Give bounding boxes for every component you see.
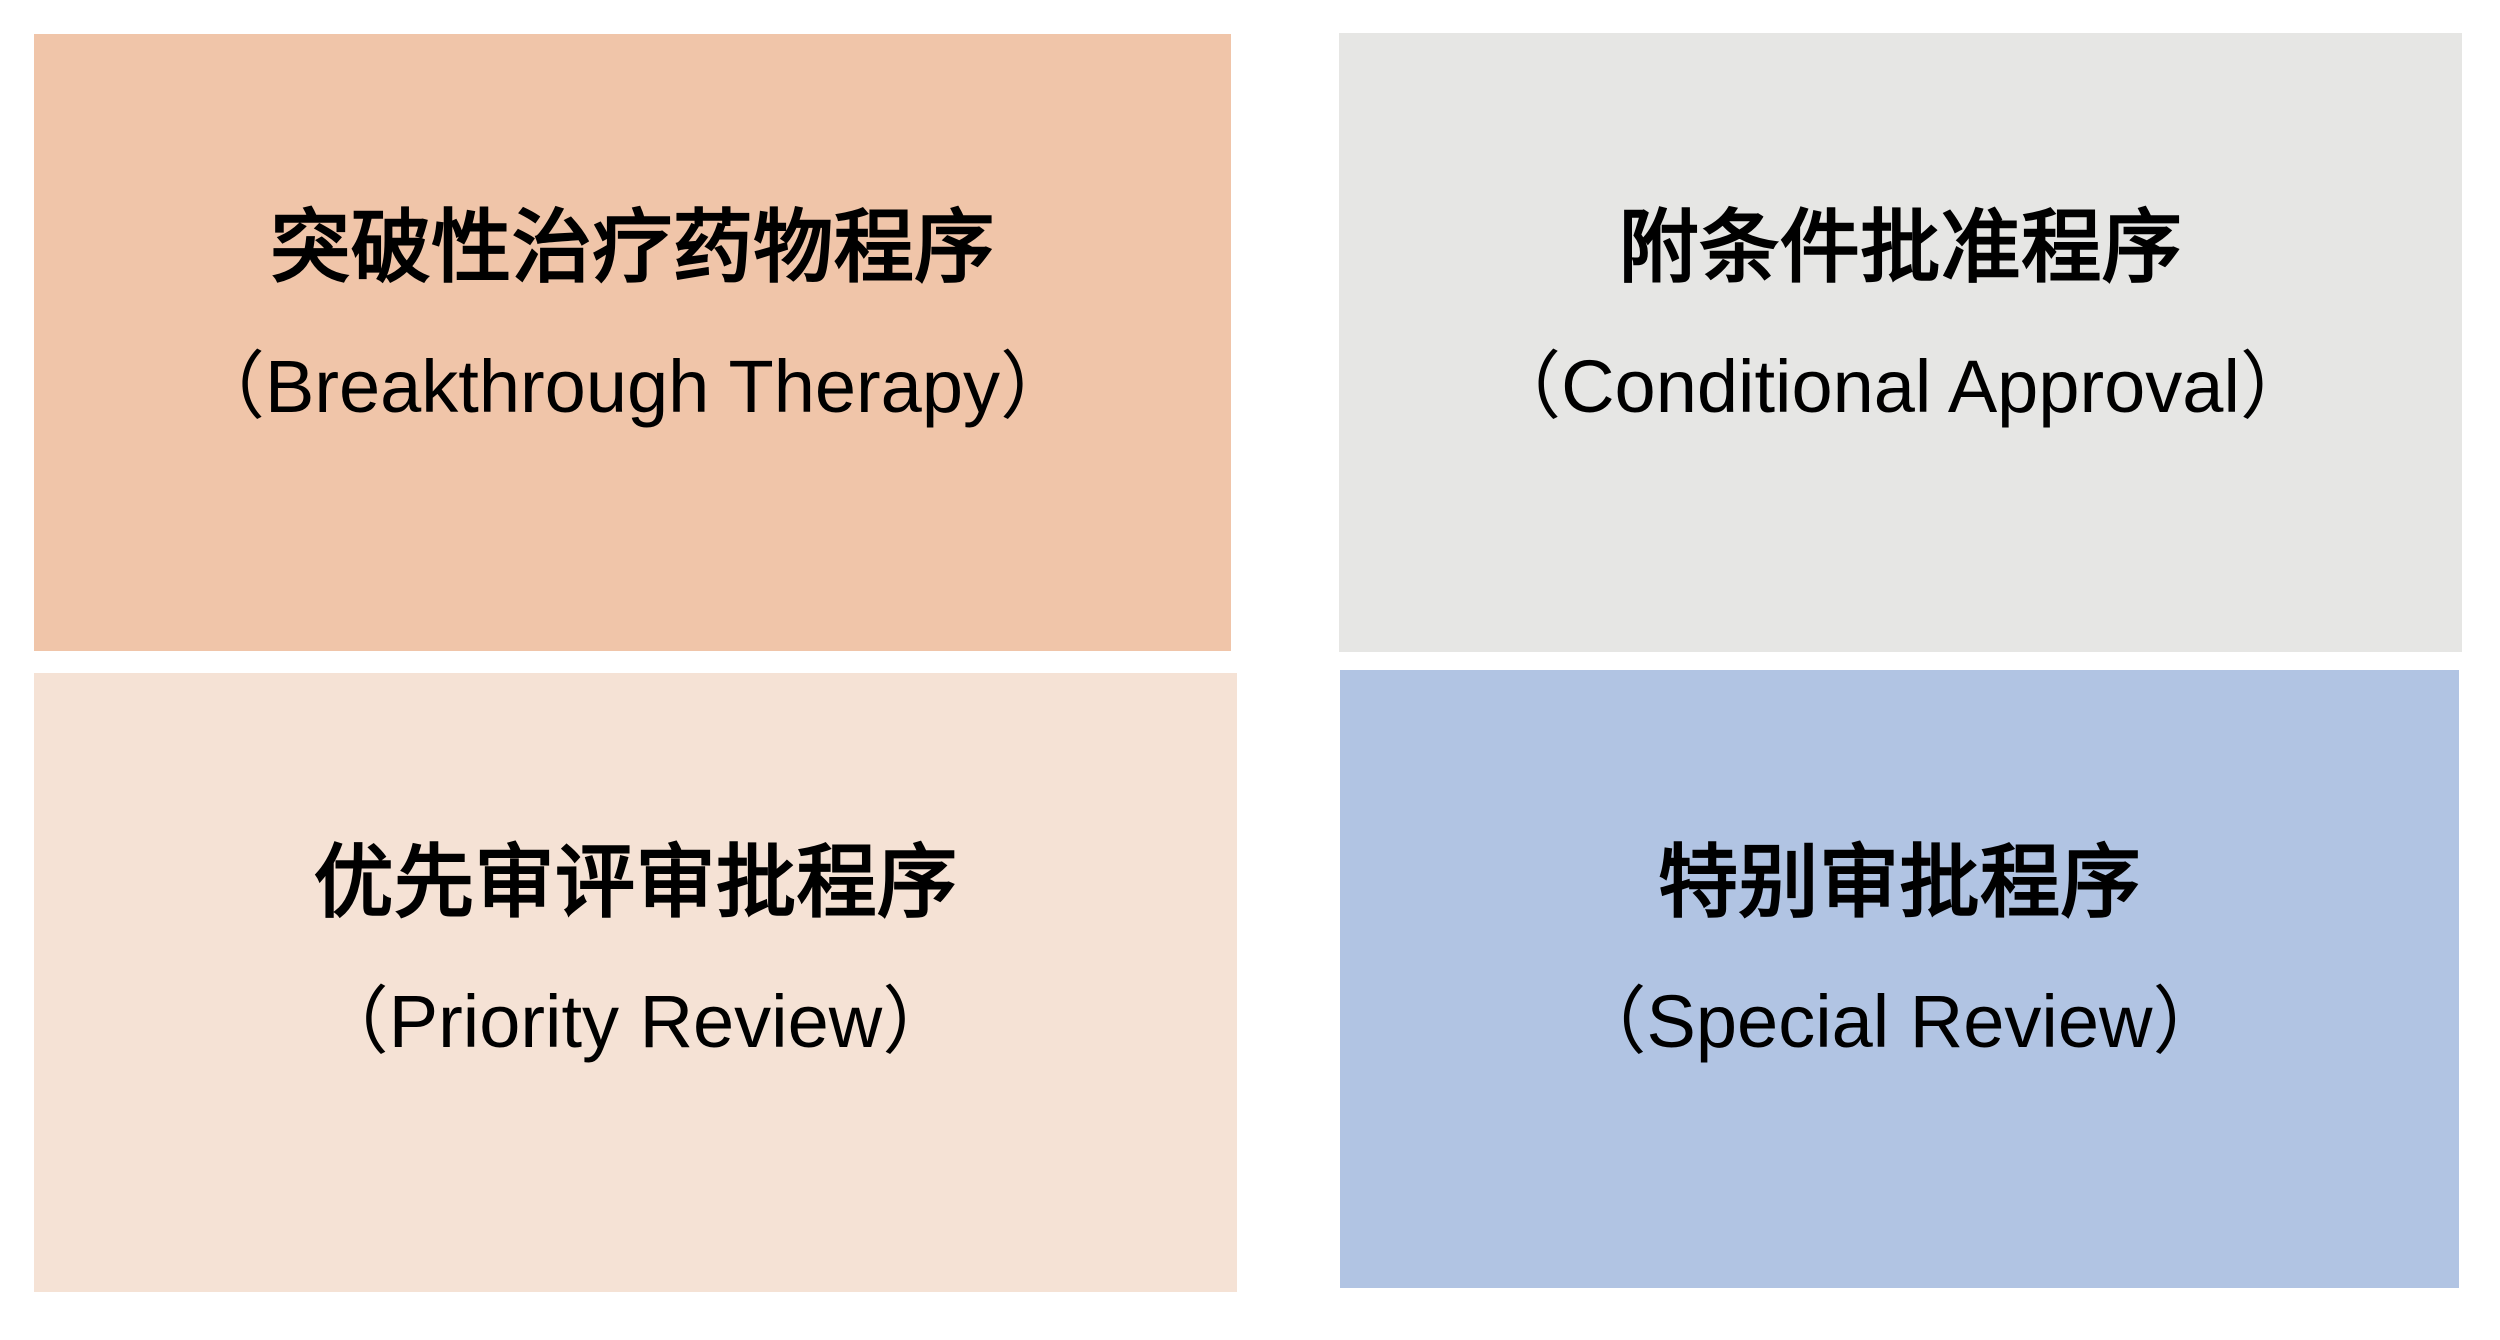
card-label-chinese: 突破性治疗药物程序 xyxy=(34,206,1231,291)
card-label-chinese: 附条件批准程序 xyxy=(1339,206,2462,291)
card-label-group: 突破性治疗药物程序 （Breakthrough Therapy） xyxy=(34,206,1231,427)
card-label-group: 附条件批准程序 （Conditional Approval） xyxy=(1339,206,2462,427)
card-special-review[interactable]: 特别审批程序 （Special Review） xyxy=(1340,670,2459,1288)
card-label-english: （Special Review） xyxy=(1340,982,2459,1062)
card-breakthrough-therapy[interactable]: 突破性治疗药物程序 （Breakthrough Therapy） xyxy=(34,34,1231,651)
card-label-chinese: 特别审批程序 xyxy=(1340,841,2459,926)
card-label-group: 优先审评审批程序 （Priority Review） xyxy=(34,841,1237,1062)
card-priority-review[interactable]: 优先审评审批程序 （Priority Review） xyxy=(34,673,1237,1292)
card-label-english: （Priority Review） xyxy=(34,982,1237,1062)
diagram-canvas: 突破性治疗药物程序 （Breakthrough Therapy） 附条件批准程序… xyxy=(0,0,2500,1340)
card-label-group: 特别审批程序 （Special Review） xyxy=(1340,841,2459,1062)
card-label-english: （Conditional Approval） xyxy=(1339,347,2462,427)
card-label-english: （Breakthrough Therapy） xyxy=(34,347,1231,427)
card-label-chinese: 优先审评审批程序 xyxy=(34,841,1237,926)
card-conditional-approval[interactable]: 附条件批准程序 （Conditional Approval） xyxy=(1339,33,2462,652)
